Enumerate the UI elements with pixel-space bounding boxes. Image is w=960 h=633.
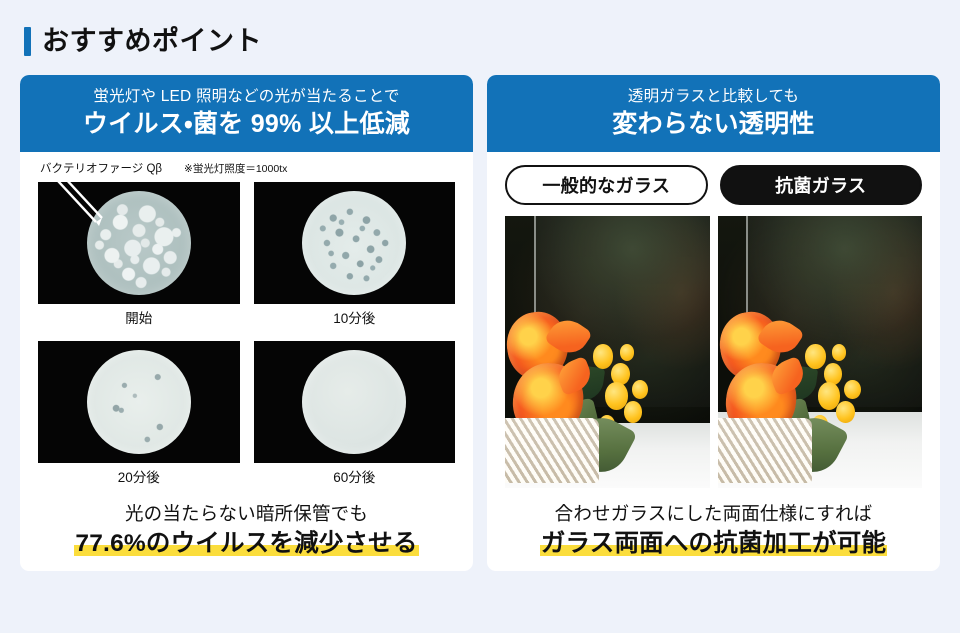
glass-photo-antibacterial-scene (718, 216, 923, 488)
spec-sample-label: バクテリオファージ Qβ (40, 163, 162, 177)
title-accent-bar-icon (24, 27, 31, 56)
petri-dish-label-60min: 60分後 (254, 463, 456, 495)
photo-yellow-bloom (836, 401, 854, 423)
page-root: おすすめポイント 蛍光灯や LED 照明などの光が当たることで ウイルス・菌を … (0, 0, 960, 633)
card-header-main-transparency: 変わらない透明性 (497, 109, 930, 139)
petri-dish-disc-start (87, 191, 191, 295)
photo-yellow-bloom (844, 380, 860, 399)
petri-dish-cell-20min: 20分後 (38, 341, 240, 495)
card-header-virus: 蛍光灯や LED 照明などの光が当たることで ウイルス・菌を 99% 以上低減 (20, 75, 473, 152)
photo-yellow-bloom (620, 344, 634, 360)
pill-normal-glass: 一般的なガラス (505, 165, 708, 205)
card-body-virus: バクテリオファージ Qβ ※蛍光灯照度＝1000tx (20, 152, 473, 570)
glass-type-pill-row: 一般的なガラス 抗菌ガラス (487, 152, 940, 205)
photo-yellow-bloom (632, 380, 648, 399)
petri-dish-disc-10min (302, 191, 406, 295)
card-footer-main-transparency: ガラス両面への抗菌加工が可能 (540, 529, 887, 558)
petri-dish-disc-20min (87, 350, 191, 454)
photo-yellow-bloom (832, 344, 846, 360)
glass-photo-antibacterial (718, 216, 923, 488)
petri-dish-label-20min: 20分後 (38, 463, 240, 495)
card-footer-main-virus: 77.6%のウイルスを減少させる (74, 529, 418, 558)
page-title-label: おすすめポイント (42, 28, 262, 55)
card-header-main-virus: ウイルス・菌を 99% 以上低減 (30, 109, 463, 139)
card-footer-highlight-transparency: ガラス両面への抗菌加工が可能 (540, 530, 887, 557)
photo-wicker-basket (718, 418, 812, 483)
petri-dish-label-10min: 10分後 (254, 304, 456, 336)
card-footer-sub-virus: 光の当たらない暗所保管でも (38, 502, 455, 525)
card-footer-virus: 光の当たらない暗所保管でも 77.6%のウイルスを減少させる (38, 494, 455, 559)
glass-photo-normal (505, 216, 710, 488)
page-title: おすすめポイント (24, 21, 940, 61)
card-footer-transparency: 合わせガラスにした両面仕様にすれば ガラス両面への抗菌加工が可能 (505, 494, 922, 559)
card-header-sub-virus: 蛍光灯や LED 照明などの光が当たることで (30, 87, 463, 106)
card-header-sub-transparency: 透明ガラスと比較しても (497, 87, 930, 106)
petri-dish-photo-10min (254, 182, 456, 304)
card-virus-reduction: 蛍光灯や LED 照明などの光が当たることで ウイルス・菌を 99% 以上低減 … (20, 75, 473, 571)
petri-dish-cell-start: 開始 (38, 182, 240, 336)
card-footer-highlight-virus: 77.6%のウイルスを減少させる (74, 530, 418, 557)
card-footer-sub-transparency: 合わせガラスにした両面仕様にすれば (505, 502, 922, 525)
pill-antibacterial-glass-label: 抗菌ガラス (775, 172, 866, 198)
card-transparency: 透明ガラスと比較しても 変わらない透明性 一般的なガラス 抗菌ガラス (487, 75, 940, 571)
photo-yellow-bloom (805, 344, 825, 368)
photo-yellow-bloom (593, 344, 613, 368)
pill-antibacterial-glass: 抗菌ガラス (720, 165, 923, 205)
photo-wicker-basket (505, 418, 599, 483)
photo-yellow-bloom (624, 401, 642, 423)
petri-dish-label-start: 開始 (38, 304, 240, 336)
spec-line: バクテリオファージ Qβ ※蛍光灯照度＝1000tx (40, 163, 455, 177)
petri-dish-grid: 開始 10分後 20分後 (38, 182, 455, 494)
petri-dish-photo-start (38, 182, 240, 304)
spec-note-label: ※蛍光灯照度＝1000tx (184, 163, 287, 176)
petri-dish-photo-60min (254, 341, 456, 463)
petri-dish-disc-60min (302, 350, 406, 454)
pill-normal-glass-label: 一般的なガラス (542, 172, 670, 198)
card-body-transparency: 合わせガラスにした両面仕様にすれば ガラス両面への抗菌加工が可能 (487, 488, 940, 570)
petri-dish-cell-60min: 60分後 (254, 341, 456, 495)
petri-dish-cell-10min: 10分後 (254, 182, 456, 336)
card-header-transparency: 透明ガラスと比較しても 変わらない透明性 (487, 75, 940, 152)
glass-photo-row (487, 205, 940, 488)
glass-photo-normal-scene (505, 216, 710, 488)
cards-container: 蛍光灯や LED 照明などの光が当たることで ウイルス・菌を 99% 以上低減 … (20, 75, 940, 571)
petri-dish-photo-20min (38, 341, 240, 463)
